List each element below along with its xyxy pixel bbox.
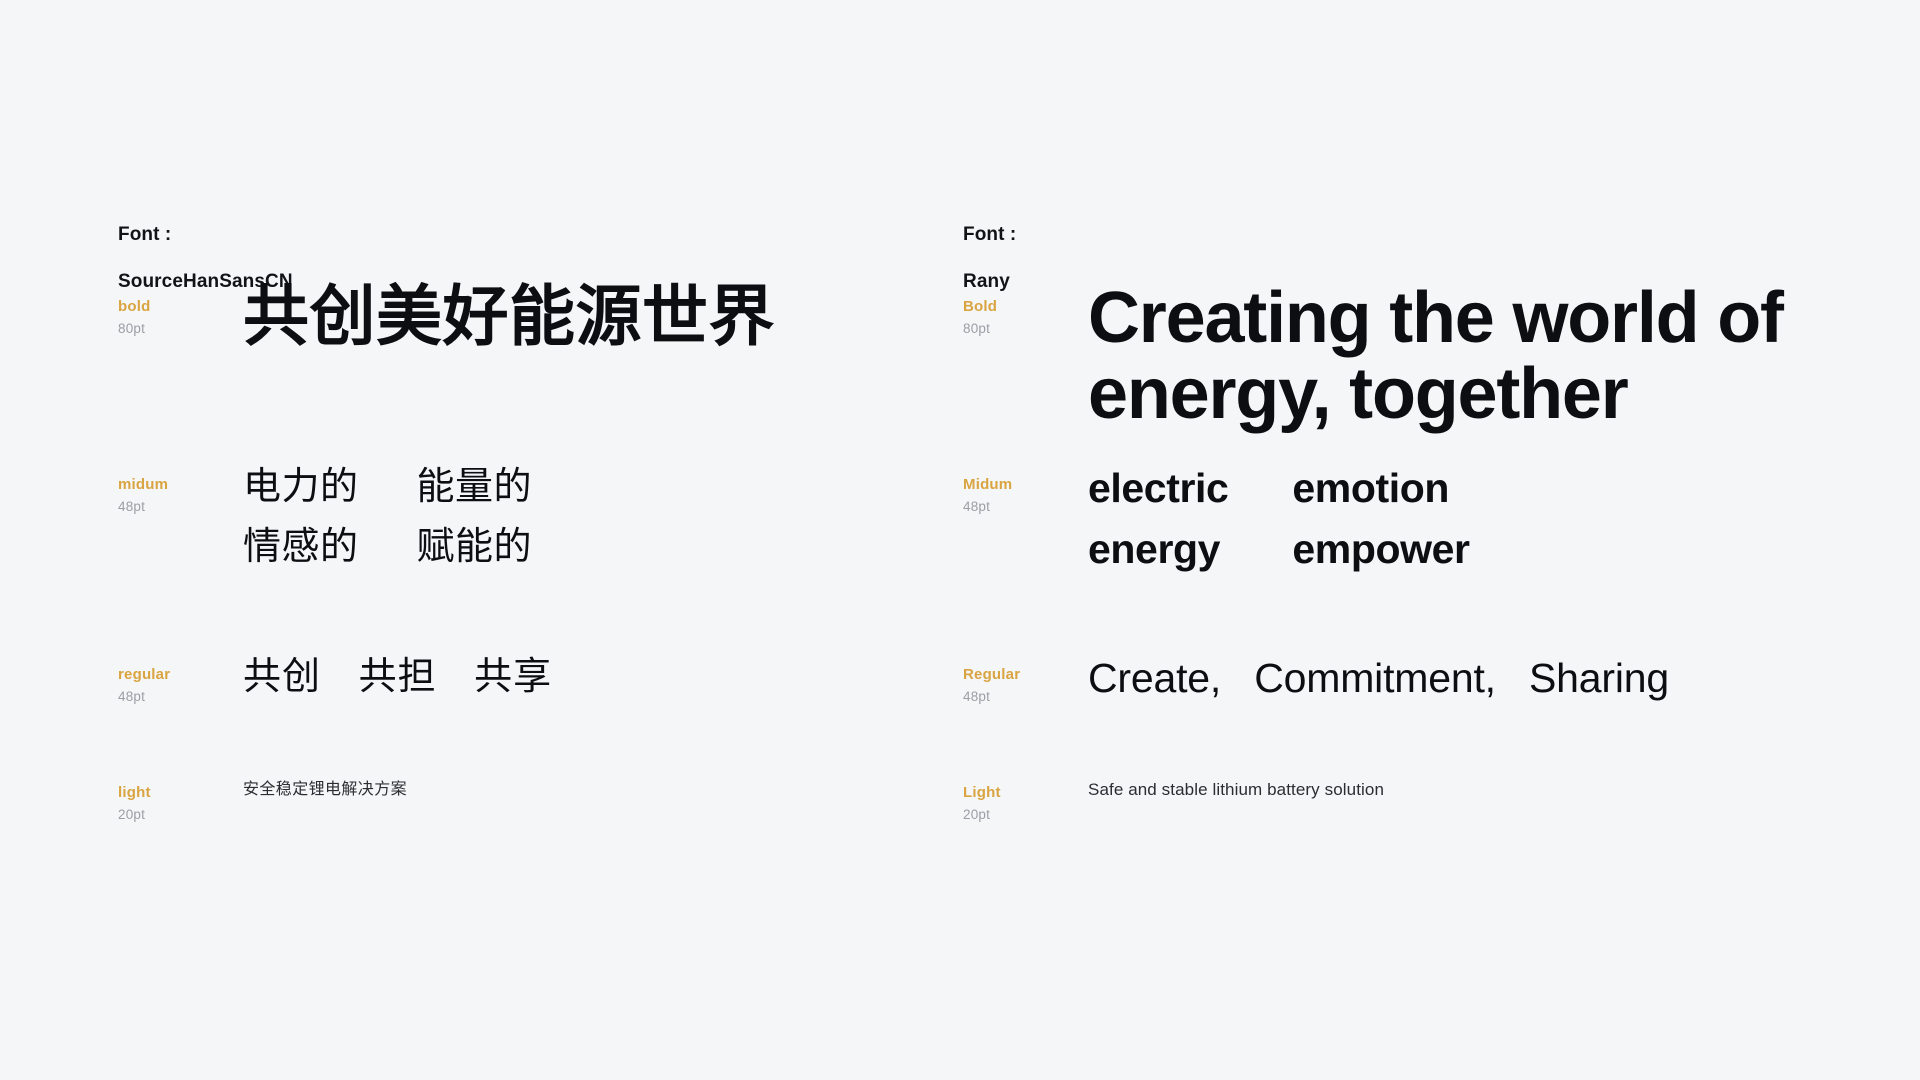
- size-label: 48pt: [963, 689, 1083, 706]
- weight-label: Midum: [963, 476, 1083, 495]
- sample-word: Commitment,: [1254, 655, 1496, 701]
- specimen-meta: Midum 48pt: [963, 476, 1083, 516]
- specimen-sample-display: Creating the world of energy, together: [1088, 280, 1783, 433]
- font-header-name: Rany: [963, 270, 1016, 293]
- sample-word: emotion: [1292, 468, 1469, 509]
- sample-word: 共享: [474, 656, 552, 698]
- sample-word: empower: [1292, 529, 1469, 570]
- specimen-meta: midum 48pt: [118, 476, 238, 516]
- specimen-meta: regular 48pt: [118, 666, 238, 706]
- weight-label: Light: [963, 784, 1083, 803]
- weight-label: bold: [118, 298, 238, 317]
- size-label: 48pt: [118, 499, 238, 516]
- specimen-sample-caption: 安全稳定锂电解决方案: [243, 780, 407, 799]
- weight-label: midum: [118, 476, 238, 495]
- sample-word: Create,: [1088, 655, 1221, 701]
- sample-word: 能量的: [417, 468, 533, 506]
- size-label: 20pt: [118, 807, 238, 824]
- sample-word: energy: [1088, 529, 1228, 570]
- weight-label: light: [118, 784, 238, 803]
- sample-word: 情感的: [243, 528, 359, 566]
- sample-word: 赋能的: [417, 528, 533, 566]
- font-column-chinese: Font : SourceHanSansCN bold 80pt 共创美好能源世…: [118, 0, 958, 1080]
- specimen-sample-caption: Safe and stable lithium battery solution: [1088, 780, 1384, 800]
- specimen-meta: Bold 80pt: [963, 298, 1083, 338]
- specimen-meta: light 20pt: [118, 784, 238, 824]
- size-label: 80pt: [118, 321, 238, 338]
- typography-specimen-sheet: Font : SourceHanSansCN bold 80pt 共创美好能源世…: [0, 0, 1920, 1080]
- size-label: 20pt: [963, 807, 1083, 824]
- sample-line: Creating the world of: [1088, 280, 1783, 356]
- size-label: 80pt: [963, 321, 1083, 338]
- specimen-sample-display: 共创美好能源世界: [243, 280, 775, 353]
- sample-word: 电力的: [243, 468, 359, 506]
- sample-word: 共创: [243, 656, 321, 698]
- sample-line: energy, together: [1088, 356, 1783, 432]
- specimen-sample-words: 电力的 能量的 情感的 赋能的: [243, 468, 532, 566]
- sample-word: Sharing: [1529, 655, 1669, 701]
- size-label: 48pt: [963, 499, 1083, 516]
- sample-word: 共担: [359, 656, 437, 698]
- weight-label: Bold: [963, 298, 1083, 317]
- specimen-sample-words: 共创 共担 共享: [243, 658, 552, 696]
- font-header-label: Font :: [963, 223, 1016, 246]
- specimen-meta: Light 20pt: [963, 784, 1083, 824]
- specimen-sample-words: electric emotion energy empower: [1088, 468, 1470, 570]
- specimen-sample-words: Create, Commitment, Sharing: [1088, 658, 1669, 699]
- size-label: 48pt: [118, 689, 238, 706]
- weight-label: regular: [118, 666, 238, 685]
- weight-label: Regular: [963, 666, 1083, 685]
- font-column-english: Font : Rany Bold 80pt Creating the world…: [963, 0, 1843, 1080]
- sample-word: electric: [1088, 468, 1228, 509]
- font-header-label: Font :: [118, 223, 293, 246]
- specimen-meta: Regular 48pt: [963, 666, 1083, 706]
- specimen-meta: bold 80pt: [118, 298, 238, 338]
